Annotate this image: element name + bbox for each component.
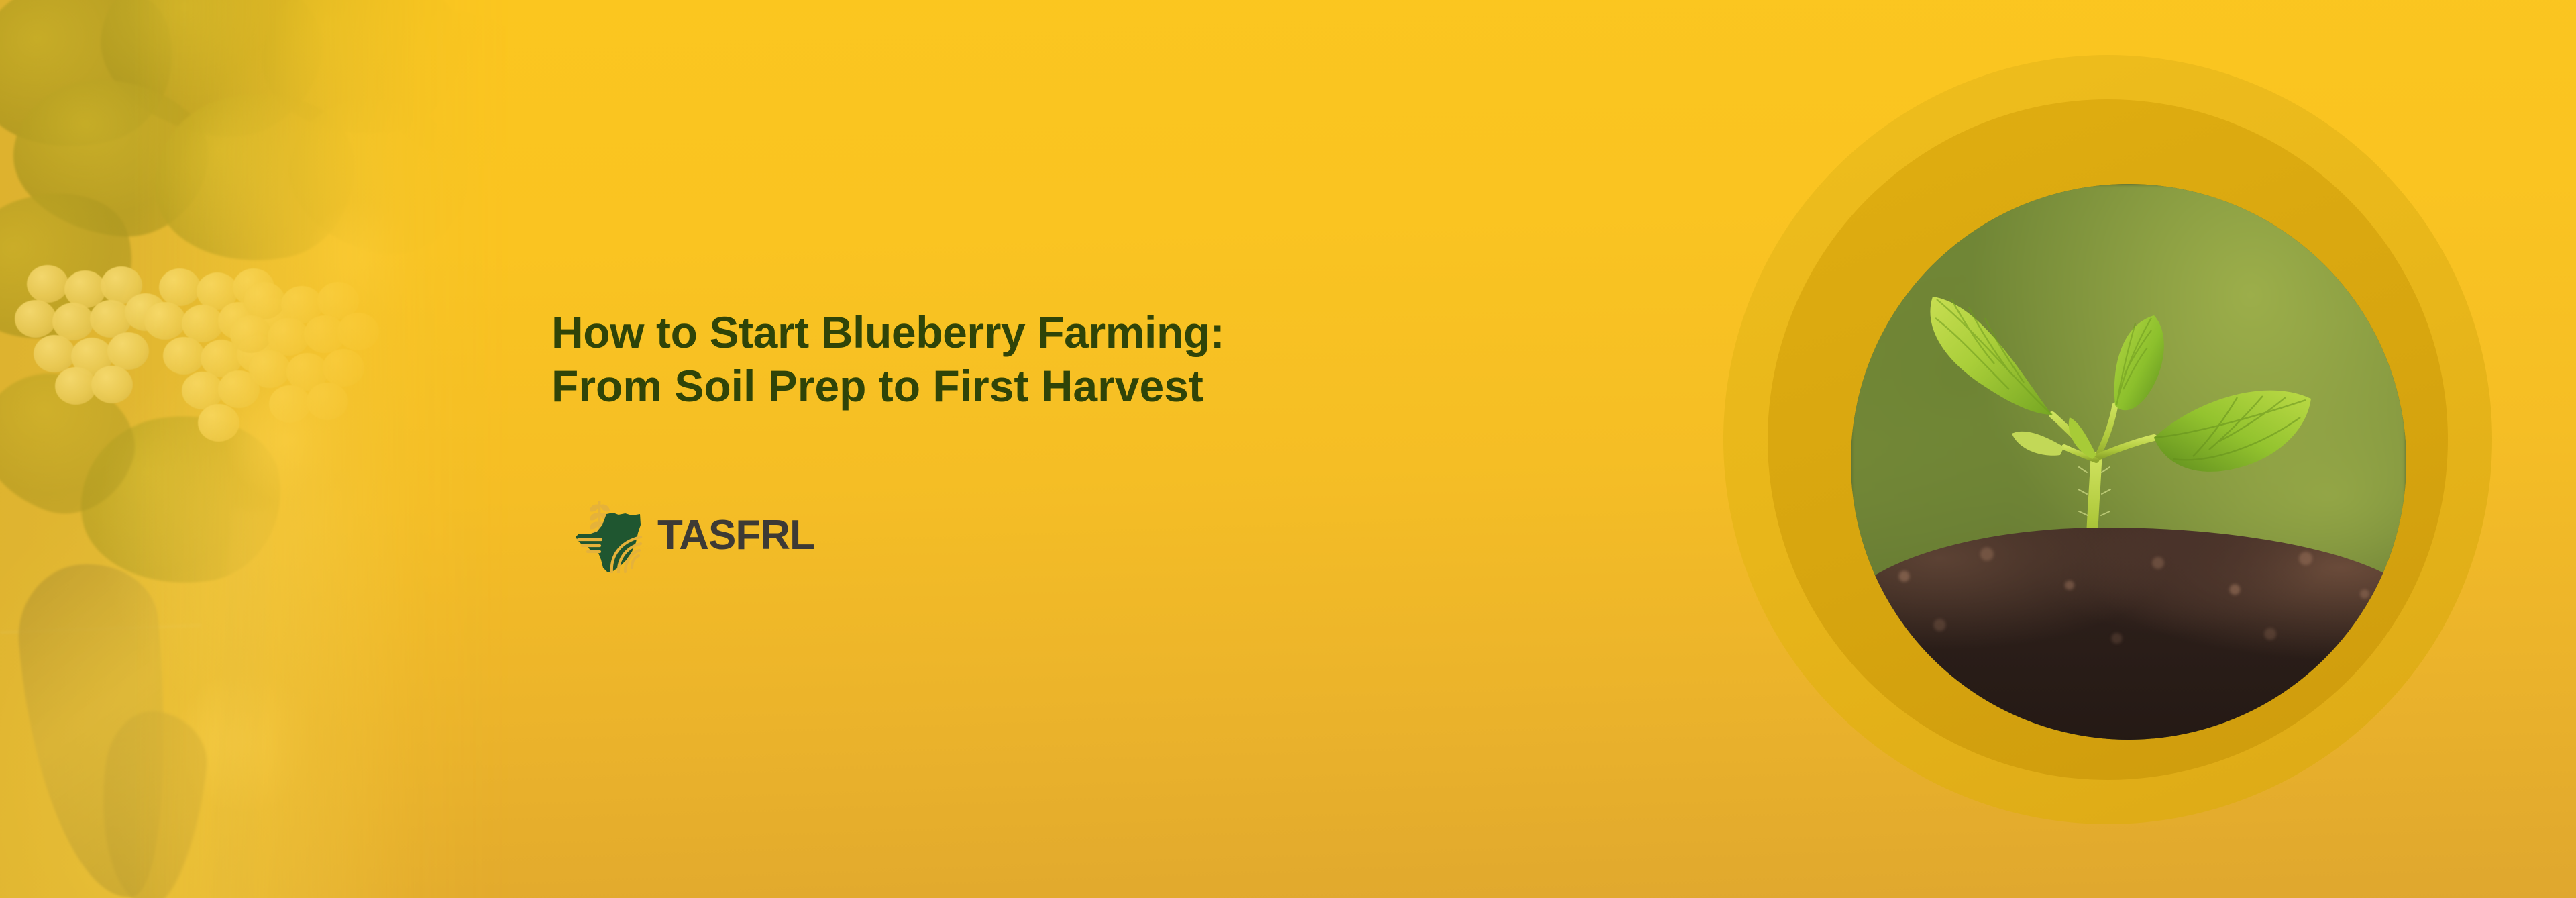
seedling-in-soil-circular-photo	[1851, 184, 2406, 740]
texas-outline-icon	[576, 513, 641, 573]
blog-hero-banner: How to Start Blueberry Farming: From Soi…	[0, 0, 2576, 898]
vineyard-artwork	[0, 0, 510, 898]
headline-block: How to Start Blueberry Farming: From Soi…	[551, 305, 1692, 413]
headline-line-2: From Soil Prep to First Harvest	[551, 359, 1692, 413]
logo-wordmark: TASFRL	[657, 515, 814, 556]
vineyard-yellow-tint	[0, 0, 510, 898]
texas-outline-with-wheat-icon	[572, 498, 645, 573]
headline-line-1: How to Start Blueberry Farming:	[551, 305, 1692, 359]
seedling-medallion	[1723, 17, 2492, 883]
vineyard-grapes-photo-overlay	[0, 0, 510, 898]
logo-lockup[interactable]: TASFRL	[572, 498, 814, 573]
dark-soil-mound	[1851, 528, 2406, 740]
